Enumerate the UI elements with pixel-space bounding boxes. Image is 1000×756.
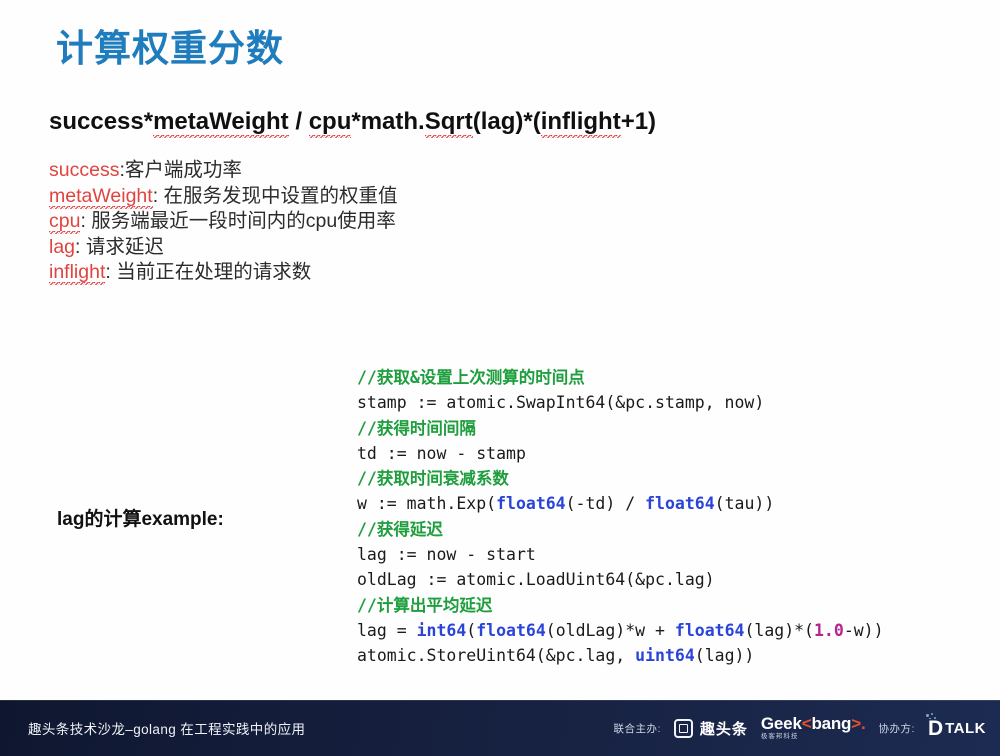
code-token-plain: td := now - stamp [357,444,526,463]
code-token-plain: ( [466,621,476,640]
code-line-highlighted: //计算出平均延迟 [357,593,884,618]
code-token-cmt: //获取&设置上次测算的时间点 [357,368,585,387]
cohost-label: 联合主办: [613,721,660,736]
definition-description: 客户端成功率 [125,159,242,181]
code-token-plain: lag := now - start [357,545,536,564]
code-line: //获取时间衰减系数 [357,466,884,491]
definition-description: 在服务发现中设置的权重值 [158,185,397,207]
definition-row: cpu: 服务端最近一段时间内的cpu使用率 [49,209,398,235]
code-token-plain: lag = [357,621,417,640]
code-token-plain: (lag)*( [744,621,814,640]
code-token-plain: (tau)) [715,494,775,513]
definition-variable-cpu: cpu [49,210,80,234]
code-line: lag := now - start [357,542,884,567]
slide-footer: 趣头条技术沙龙–golang 在工程实践中的应用 联合主办: 趣头条 Geek<… [0,700,1000,756]
formula-token-3: / [289,108,309,135]
page-title: 计算权重分数 [56,18,284,72]
code-line: //获取&设置上次测算的时间点 [357,365,884,390]
dtalk-logo-text: TALK [945,720,986,737]
definition-variable-lag: lag [49,236,75,258]
code-token-typ: float64 [496,494,566,513]
geekbang-text-b: bang [811,714,851,733]
code-line: lag = int64(float64(oldLag)*w + float64(… [357,618,884,643]
definition-row: lag: 请求延迟 [49,235,398,261]
code-line: oldLag := atomic.LoadUint64(&pc.lag) [357,567,884,592]
definition-row: inflight: 当前正在处理的请求数 [49,260,398,286]
qutoutiao-logo: 趣头条 [674,718,748,739]
geekbang-logo: Geek<bang>. 极客邦科技 [761,715,866,741]
code-token-plain: (-td) / [566,494,645,513]
geekbang-logo-text: Geek<bang>. [761,715,866,732]
definition-row: metaWeight: 在服务发现中设置的权重值 [49,184,398,210]
definition-description: 服务端最近一段时间内的cpu使用率 [86,210,396,232]
code-token-cmt: //计算出平均延迟 [357,596,492,615]
code-token-cmt: //获得延迟 [357,520,443,539]
formula-token-1: * [144,108,153,135]
code-block: //获取&设置上次测算的时间点stamp := atomic.SwapInt64… [357,365,884,669]
code-token-typ: int64 [417,621,467,640]
code-token-plain: -w)) [844,621,884,640]
code-line: stamp := atomic.SwapInt64(&pc.stamp, now… [357,390,884,415]
definition-variable-success: success [49,159,119,181]
qutoutiao-mark-icon [674,719,693,738]
code-token-cmt: //获取时间衰减系数 [357,469,509,488]
partner-label: 协办方: [879,721,915,736]
code-token-plain: (oldLag)*w + [546,621,675,640]
code-token-plain: atomic.StoreUint64(&pc.lag, [357,646,635,665]
code-line: w := math.Exp(float64(-td) / float64(tau… [357,491,884,516]
geekbang-accent-left: < [802,714,812,733]
definition-variable-inflight: inflight [49,261,105,285]
code-line: //获得延迟 [357,517,884,542]
formula-token-0: success [49,108,144,135]
code-token-plain: (lag)) [695,646,755,665]
code-line: //获得时间间隔 [357,416,884,441]
code-token-plain: stamp := atomic.SwapInt64(&pc.stamp, now… [357,393,764,412]
formula-token-9: +1) [621,108,656,135]
definition-description: 当前正在处理的请求数 [111,261,311,283]
code-token-typ: uint64 [635,646,695,665]
code-token-plain: oldLag := atomic.LoadUint64(&pc.lag) [357,570,715,589]
code-token-typ: float64 [645,494,715,513]
definition-variable-metaWeight: metaWeight [49,185,153,209]
formula-token-6: Sqrt [425,108,473,138]
definition-description: 请求延迟 [80,236,163,258]
formula-token-5: *math. [351,108,424,135]
formula-token-8: inflight [541,108,621,138]
dtalk-dots-icon [925,713,939,723]
code-line: atomic.StoreUint64(&pc.lag, uint64(lag)) [357,643,884,668]
code-token-num: 1.0 [814,621,844,640]
code-line: td := now - stamp [357,441,884,466]
formula-token-4: cpu [309,108,352,138]
dtalk-logo: D TALK [928,718,986,739]
code-token-cmt: //获得时间间隔 [357,419,476,438]
qutoutiao-logo-text: 趣头条 [700,718,748,739]
code-token-typ: float64 [476,621,546,640]
geekbang-logo-subtext: 极客邦科技 [761,734,866,741]
formula-token-7: (lag)*( [473,108,541,135]
geekbang-accent-right: >. [851,714,865,733]
geekbang-text-a: Geek [761,714,802,733]
code-token-plain: w := math.Exp( [357,494,496,513]
footer-logos: 联合主办: 趣头条 Geek<bang>. 极客邦科技 协办方: D TALK [613,715,986,741]
slide-canvas: 计算权重分数 success*metaWeight / cpu*math.Sqr… [0,0,1000,756]
footer-title: 趣头条技术沙龙–golang 在工程实践中的应用 [28,718,305,738]
example-label: lag的计算example: [57,504,224,531]
code-token-typ: float64 [675,621,745,640]
variable-definitions: success:客户端成功率metaWeight: 在服务发现中设置的权重值cp… [49,158,398,286]
definition-row: success:客户端成功率 [49,158,398,184]
formula-token-2: metaWeight [153,108,289,138]
weight-formula: success*metaWeight / cpu*math.Sqrt(lag)*… [49,108,656,136]
